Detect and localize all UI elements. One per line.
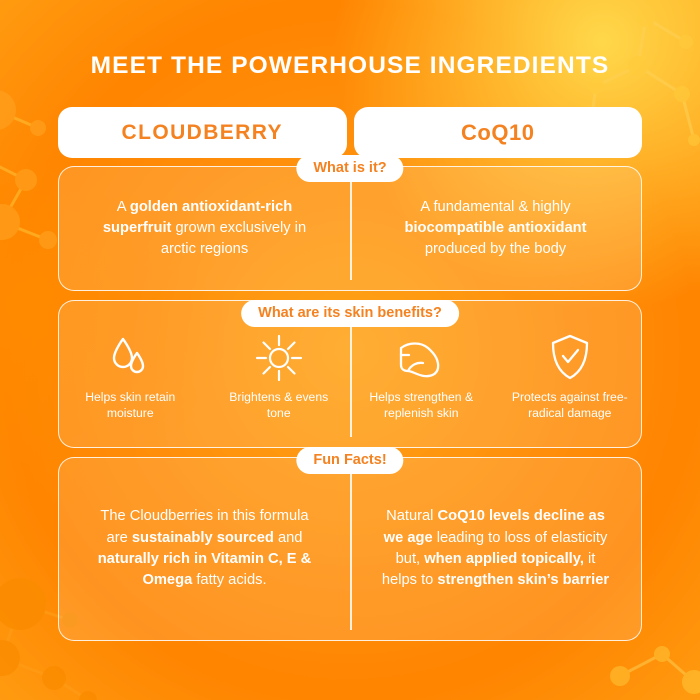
benefit-caption: Protects against free-radical damage (510, 390, 630, 421)
section-what-is-it: A golden antioxidant-rich superfruit gro… (58, 166, 642, 291)
fun-facts-cloudberry: The Cloudberries in this formula are sus… (59, 458, 350, 640)
section-pill-what-is-it: What is it? (296, 155, 403, 182)
header-coq10: CoQ10 (354, 107, 643, 158)
benefit-item: Helps strengthen & replenish skin (350, 332, 493, 421)
section-fun-facts: The Cloudberries in this formula are sus… (58, 457, 642, 641)
page-title: MEET THE POWERHOUSE INGREDIENTS (0, 52, 700, 80)
header-cloudberry: CLOUDBERRY (58, 107, 347, 158)
fun-facts-coq10-text: Natural CoQ10 levels decline as we age l… (350, 506, 641, 591)
what-is-it-cloudberry: A golden antioxidant-rich superfruit gro… (59, 167, 350, 290)
infographic-page: MEET THE POWERHOUSE INGREDIENTS CLOUDBER… (0, 0, 700, 700)
benefit-caption: Brightens & evens tone (219, 390, 339, 421)
ingredient-headers: CLOUDBERRY CoQ10 (58, 107, 642, 158)
water-drops-icon (107, 332, 153, 384)
benefit-item: Helps skin retain moisture (59, 332, 202, 421)
what-is-it-coq10: A fundamental & highly biocompatible ant… (350, 167, 641, 290)
fun-facts-cloudberry-text: The Cloudberries in this formula are sus… (59, 506, 350, 591)
section-pill-fun-facts: Fun Facts! (296, 447, 403, 474)
benefit-caption: Helps strengthen & replenish skin (361, 390, 481, 421)
section-pill-skin-benefits: What are its skin benefits? (241, 300, 459, 327)
benefit-item: Protects against free-radical damage (499, 332, 642, 421)
flexed-bicep-icon (395, 332, 447, 384)
shield-check-icon (547, 332, 593, 384)
benefit-item: Brightens & evens tone (208, 332, 351, 421)
sun-icon (254, 332, 304, 384)
what-is-it-coq10-text: A fundamental & highly biocompatible ant… (350, 197, 641, 260)
what-is-it-cloudberry-text: A golden antioxidant-rich superfruit gro… (59, 197, 350, 260)
benefit-caption: Helps skin retain moisture (70, 390, 190, 421)
fun-facts-coq10: Natural CoQ10 levels decline as we age l… (350, 458, 641, 640)
